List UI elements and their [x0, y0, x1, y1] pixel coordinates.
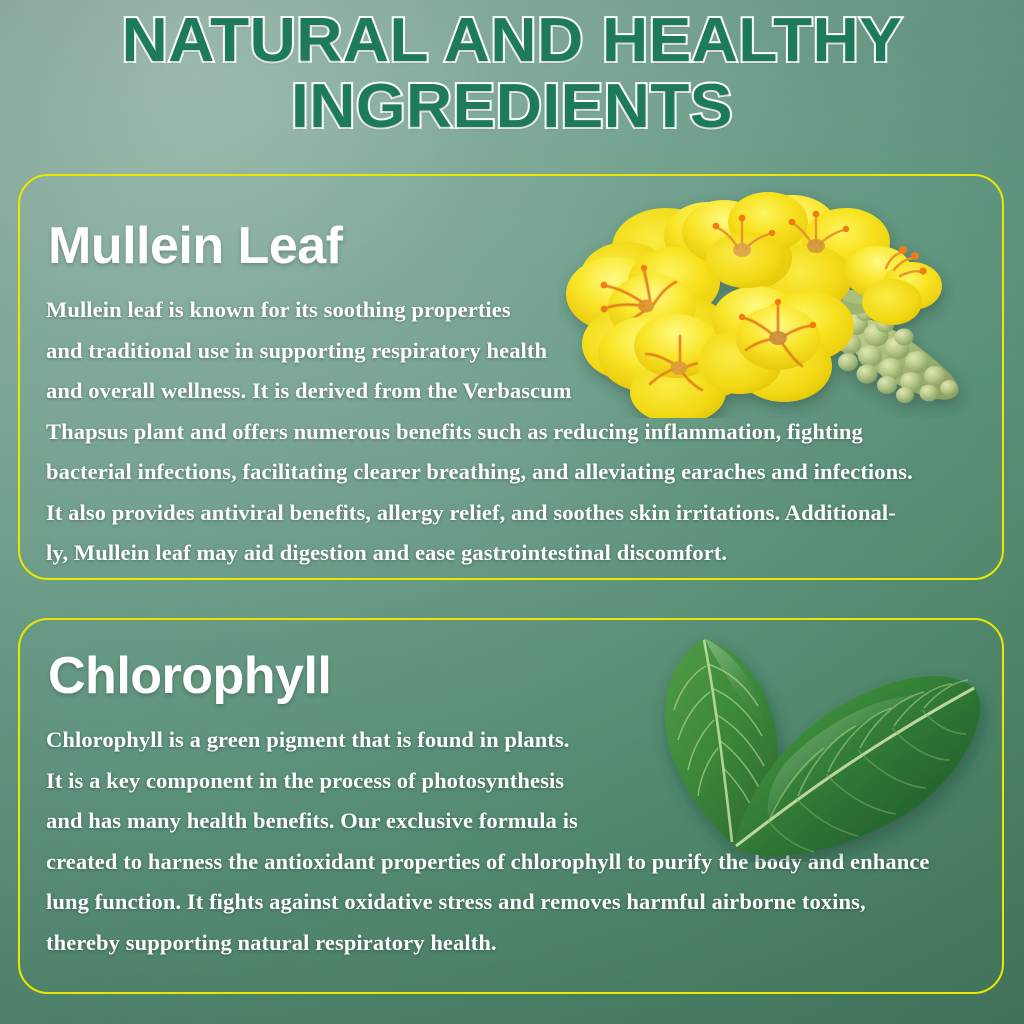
body-line: and overall wellness. It is derived from…: [46, 371, 646, 412]
body-line: lung function. It fights against oxidati…: [46, 882, 982, 923]
body-line: Mullein leaf is known for its soothing p…: [46, 290, 646, 331]
poster-title-line-1: NATURAL AND HEALTHY: [0, 8, 1024, 74]
card-heading-chlorophyll: Chlorophyll: [48, 648, 331, 704]
body-line: Chlorophyll is a green pigment that is f…: [46, 720, 646, 761]
poster-title-line-2: INGREDIENTS: [0, 74, 1024, 140]
body-line: and traditional use in supporting respir…: [46, 331, 646, 372]
body-line: It is a key component in the process of …: [46, 761, 646, 802]
body-line: created to harness the antioxidant prope…: [46, 842, 982, 883]
poster-title: NATURAL AND HEALTHY INGREDIENTS: [0, 8, 1024, 140]
card-body-mullein: Mullein leaf is known for its soothing p…: [46, 290, 982, 574]
ingredient-card-mullein: Mullein Leaf Mullein leaf is known for i…: [18, 174, 1004, 580]
body-line: bacterial infections, facilitating clear…: [46, 452, 982, 493]
body-line: It also provides antiviral benefits, all…: [46, 493, 982, 534]
body-line: thereby supporting natural respiratory h…: [46, 923, 982, 964]
card-heading-mullein: Mullein Leaf: [48, 218, 342, 274]
ingredient-card-chlorophyll: Chlorophyll Chlorophyll is a green pigme…: [18, 618, 1004, 994]
body-line: and has many health benefits. Our exclus…: [46, 801, 646, 842]
card-body-chlorophyll: Chlorophyll is a green pigment that is f…: [46, 720, 982, 963]
body-line: Thapsus plant and offers numerous benefi…: [46, 412, 982, 453]
body-line: ly, Mullein leaf may aid digestion and e…: [46, 533, 982, 574]
ingredients-poster: NATURAL AND HEALTHY INGREDIENTS: [0, 0, 1024, 1024]
